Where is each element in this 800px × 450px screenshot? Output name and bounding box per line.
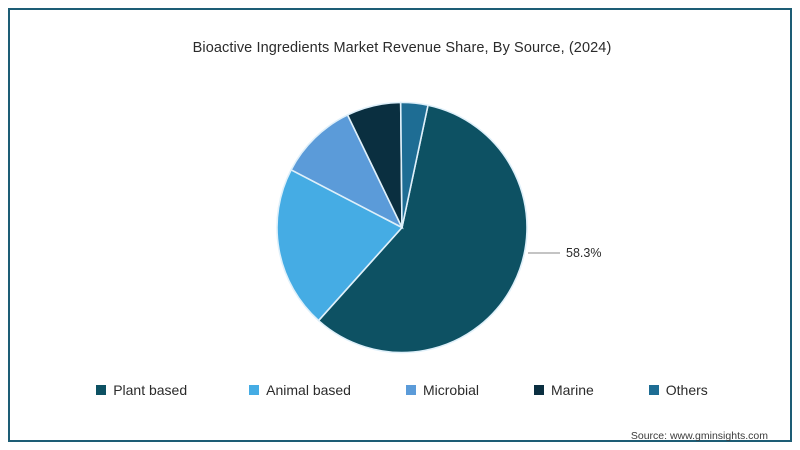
legend-item[interactable]: Marine <box>534 382 594 398</box>
legend-swatch-icon <box>96 385 106 395</box>
legend-item-label: Plant based <box>113 382 187 398</box>
legend-swatch-icon <box>649 385 659 395</box>
legend-item-label: Animal based <box>266 382 351 398</box>
chart-title: Bioactive Ingredients Market Revenue Sha… <box>10 40 794 56</box>
legend-item-label: Microbial <box>423 382 479 398</box>
slice-percent-label: 58.3% <box>566 246 601 260</box>
legend-swatch-icon <box>406 385 416 395</box>
pie-slice-group <box>277 103 527 353</box>
chart-figure-frame: Bioactive Ingredients Market Revenue Sha… <box>8 8 792 442</box>
legend-item[interactable]: Animal based <box>249 382 351 398</box>
pie-chart-area: 58.3% <box>10 90 794 365</box>
legend-item-label: Others <box>666 382 708 398</box>
legend-item[interactable]: Microbial <box>406 382 479 398</box>
source-attribution: Source: www.gminsights.com <box>631 430 768 442</box>
legend-item[interactable]: Plant based <box>96 382 187 398</box>
legend-swatch-icon <box>534 385 544 395</box>
legend-item[interactable]: Others <box>649 382 708 398</box>
pie-chart-svg: 58.3% <box>212 90 592 365</box>
legend-swatch-icon <box>249 385 259 395</box>
pie-leader-line-group: 58.3% <box>528 246 601 260</box>
legend-item-label: Marine <box>551 382 594 398</box>
chart-legend: Plant basedAnimal basedMicrobialMarineOt… <box>10 375 794 405</box>
